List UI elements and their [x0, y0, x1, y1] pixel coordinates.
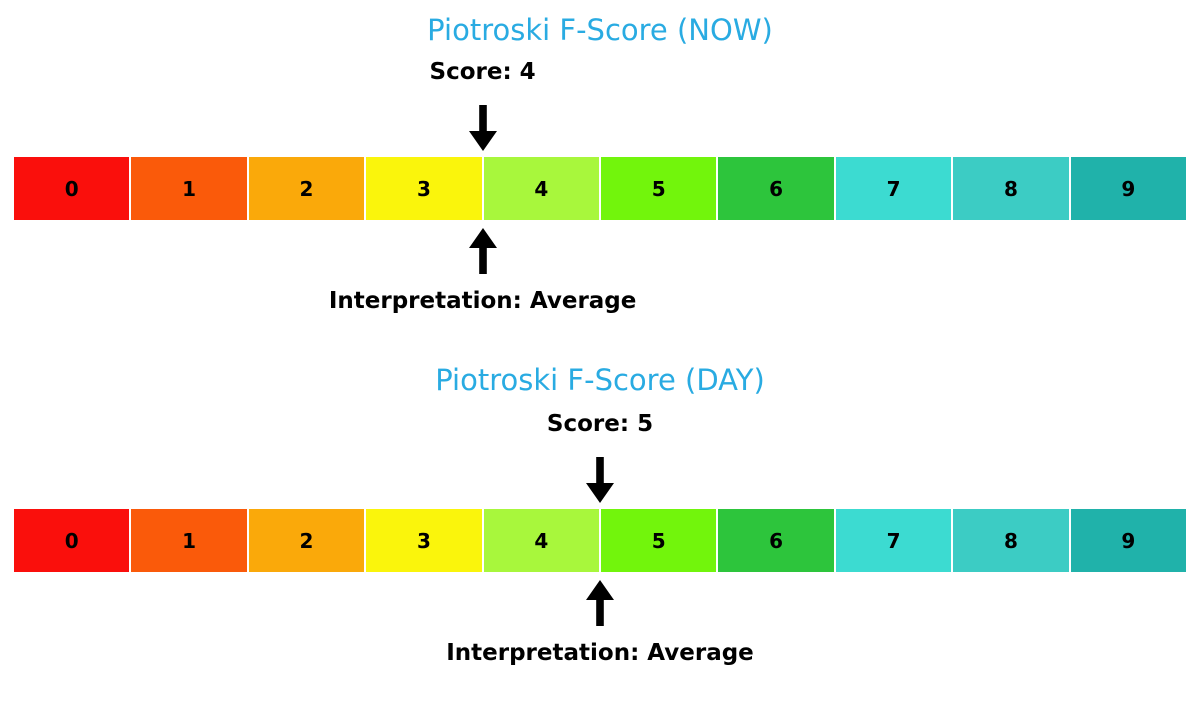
scale-segment-9[interactable]: 9: [1071, 509, 1186, 572]
scale-segment-0[interactable]: 0: [14, 509, 129, 572]
scale-segment-4[interactable]: 4: [484, 157, 599, 220]
scale-segment-1[interactable]: 1: [131, 157, 246, 220]
scale-segment-label: 8: [1004, 531, 1018, 551]
arrow-down-icon: [466, 105, 500, 151]
scale-segment-label: 9: [1121, 179, 1135, 199]
scale-segment-5[interactable]: 5: [601, 509, 716, 572]
scale-segment-6[interactable]: 6: [718, 509, 833, 572]
gauge-now: Piotroski F-Score (NOW) Score: 4 0123456…: [0, 0, 1200, 340]
scale-segment-label: 5: [652, 531, 666, 551]
scale-segment-0[interactable]: 0: [14, 157, 129, 220]
gauge-day-score-label: Score: 5: [547, 411, 653, 437]
scale-segment-label: 7: [887, 531, 901, 551]
scale-segment-label: 4: [534, 179, 548, 199]
scale-segment-label: 2: [300, 531, 314, 551]
scale-segment-label: 0: [65, 179, 79, 199]
scale-segment-label: 3: [417, 179, 431, 199]
gauge-now-scale-bar: 0123456789: [14, 157, 1186, 220]
arrow-up-icon: [583, 580, 617, 626]
scale-segment-6[interactable]: 6: [718, 157, 833, 220]
scale-segment-7[interactable]: 7: [836, 509, 951, 572]
scale-segment-1[interactable]: 1: [131, 509, 246, 572]
scale-segment-3[interactable]: 3: [366, 157, 481, 220]
gauge-now-interpretation-label: Interpretation: Average: [329, 288, 637, 314]
scale-segment-2[interactable]: 2: [249, 157, 364, 220]
scale-segment-label: 6: [769, 179, 783, 199]
arrow-down-icon: [583, 457, 617, 503]
gauge-day-interpretation-label: Interpretation: Average: [446, 640, 754, 666]
scale-segment-4[interactable]: 4: [484, 509, 599, 572]
scale-segment-2[interactable]: 2: [249, 509, 364, 572]
scale-segment-label: 4: [534, 531, 548, 551]
scale-segment-label: 1: [182, 531, 196, 551]
gauge-now-title: Piotroski F-Score (NOW): [0, 12, 1200, 48]
scale-segment-label: 3: [417, 531, 431, 551]
scale-segment-label: 7: [887, 179, 901, 199]
scale-segment-5[interactable]: 5: [601, 157, 716, 220]
scale-segment-label: 5: [652, 179, 666, 199]
gauge-day: Piotroski F-Score (DAY) Score: 5 0123456…: [0, 352, 1200, 692]
scale-segment-7[interactable]: 7: [836, 157, 951, 220]
scale-segment-label: 1: [182, 179, 196, 199]
scale-segment-8[interactable]: 8: [953, 157, 1068, 220]
gauge-day-scale-bar: 0123456789: [14, 509, 1186, 572]
arrow-up-icon: [466, 228, 500, 274]
scale-segment-8[interactable]: 8: [953, 509, 1068, 572]
scale-segment-9[interactable]: 9: [1071, 157, 1186, 220]
scale-segment-label: 6: [769, 531, 783, 551]
scale-segment-label: 9: [1121, 531, 1135, 551]
gauge-day-title: Piotroski F-Score (DAY): [0, 362, 1200, 398]
gauge-now-score-label: Score: 4: [430, 59, 536, 85]
scale-segment-label: 2: [300, 179, 314, 199]
scale-segment-label: 0: [65, 531, 79, 551]
scale-segment-label: 8: [1004, 179, 1018, 199]
scale-segment-3[interactable]: 3: [366, 509, 481, 572]
